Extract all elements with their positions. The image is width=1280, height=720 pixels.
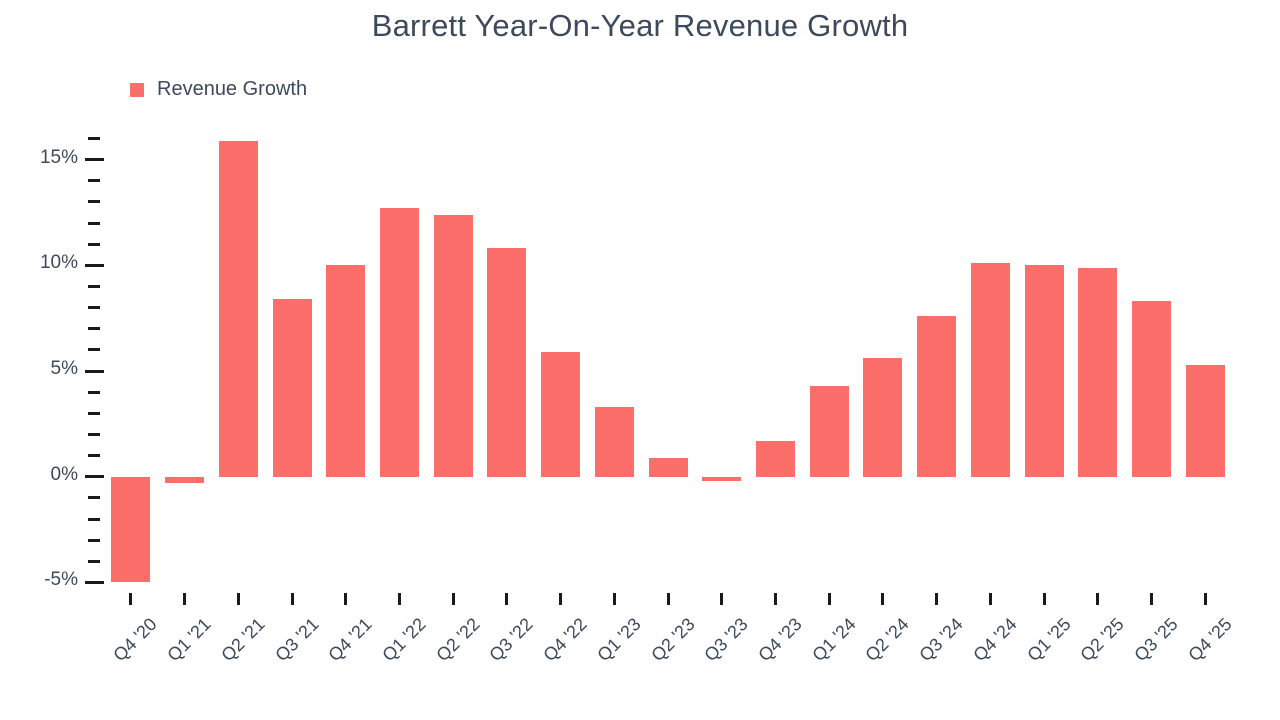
x-axis-tick xyxy=(559,593,562,605)
x-axis-tick-label: Q3 '25 xyxy=(1130,614,1182,666)
bar[interactable] xyxy=(380,208,419,476)
y-axis-minor-tick xyxy=(88,496,100,499)
x-axis-tick-label: Q2 '21 xyxy=(217,614,269,666)
y-axis-tick-label: 0% xyxy=(2,464,78,486)
bar[interactable] xyxy=(165,477,204,483)
y-axis-major-tick xyxy=(85,370,104,373)
y-axis-minor-tick xyxy=(88,327,100,330)
y-axis-minor-tick xyxy=(88,433,100,436)
y-axis-minor-tick xyxy=(88,222,100,225)
x-axis-tick-label: Q4 '23 xyxy=(754,614,806,666)
x-axis-tick xyxy=(452,593,455,605)
bar[interactable] xyxy=(649,458,688,477)
bar[interactable] xyxy=(756,441,795,477)
y-axis-tick-label: 10% xyxy=(2,252,78,274)
y-axis-minor-tick xyxy=(88,243,100,246)
y-axis-minor-tick xyxy=(88,200,100,203)
y-axis-minor-tick xyxy=(88,137,100,140)
x-axis-tick-label: Q4 '25 xyxy=(1184,614,1236,666)
x-axis-tick-label: Q4 '24 xyxy=(969,614,1021,666)
x-axis-tick xyxy=(989,593,992,605)
bar[interactable] xyxy=(810,386,849,477)
x-axis-tick-label: Q1 '21 xyxy=(163,614,215,666)
bar[interactable] xyxy=(487,248,526,476)
chart-title: Barrett Year-On-Year Revenue Growth xyxy=(0,8,1280,44)
revenue-growth-bar-chart: Barrett Year-On-Year Revenue Growth Reve… xyxy=(0,0,1280,720)
x-axis-tick-label: Q1 '25 xyxy=(1023,614,1075,666)
bar[interactable] xyxy=(595,407,634,477)
x-axis-tick xyxy=(667,593,670,605)
bar[interactable] xyxy=(1186,365,1225,477)
x-axis-tick-label: Q3 '22 xyxy=(486,614,538,666)
x-axis-tick xyxy=(398,593,401,605)
y-axis-major-tick xyxy=(85,158,104,161)
y-axis-major-tick xyxy=(85,581,104,584)
bar[interactable] xyxy=(702,477,741,481)
y-axis-minor-tick xyxy=(88,391,100,394)
x-axis-tick-label: Q1 '22 xyxy=(378,614,430,666)
x-axis-tick-label: Q3 '21 xyxy=(271,614,323,666)
x-axis-tick-label: Q3 '23 xyxy=(701,614,753,666)
bar[interactable] xyxy=(111,477,150,583)
y-axis-major-tick xyxy=(85,264,104,267)
legend-label-revenue-growth: Revenue Growth xyxy=(157,78,307,101)
y-axis-tick-label: 15% xyxy=(2,147,78,169)
bar[interactable] xyxy=(1132,301,1171,476)
x-axis-tick xyxy=(881,593,884,605)
x-axis-tick-label: Q4 '22 xyxy=(539,614,591,666)
y-axis-major-tick xyxy=(85,475,104,478)
x-axis-tick xyxy=(1204,593,1207,605)
x-axis-tick-label: Q1 '23 xyxy=(593,614,645,666)
bar[interactable] xyxy=(971,263,1010,476)
y-axis-minor-tick xyxy=(88,306,100,309)
y-axis-line xyxy=(104,128,105,593)
y-axis-minor-tick xyxy=(88,454,100,457)
y-axis-minor-tick xyxy=(88,539,100,542)
bar[interactable] xyxy=(541,352,580,477)
x-axis-tick xyxy=(129,593,132,605)
x-axis-tick-label: Q1 '24 xyxy=(808,614,860,666)
y-axis-minor-tick xyxy=(88,285,100,288)
bar[interactable] xyxy=(863,358,902,476)
x-axis-tick xyxy=(237,593,240,605)
bar[interactable] xyxy=(219,141,258,477)
x-axis-tick xyxy=(1096,593,1099,605)
y-axis-tick-label: -5% xyxy=(2,569,78,591)
x-axis-tick-label: Q4 '20 xyxy=(110,614,162,666)
x-axis-tick xyxy=(505,593,508,605)
x-axis-tick-label: Q2 '23 xyxy=(647,614,699,666)
bar[interactable] xyxy=(917,316,956,477)
chart-legend: Revenue Growth xyxy=(130,78,307,101)
bar[interactable] xyxy=(434,215,473,477)
bar[interactable] xyxy=(273,299,312,477)
x-axis-tick xyxy=(720,593,723,605)
x-axis-tick xyxy=(183,593,186,605)
x-axis-tick-label: Q2 '25 xyxy=(1077,614,1129,666)
bar[interactable] xyxy=(326,265,365,476)
x-axis-tick xyxy=(344,593,347,605)
x-axis-tick-label: Q4 '21 xyxy=(325,614,377,666)
x-axis-tick-label: Q2 '22 xyxy=(432,614,484,666)
bar[interactable] xyxy=(1025,265,1064,476)
y-axis-minor-tick xyxy=(88,412,100,415)
legend-swatch-revenue-growth xyxy=(130,83,144,97)
y-axis-minor-tick xyxy=(88,518,100,521)
x-axis-tick xyxy=(774,593,777,605)
bar[interactable] xyxy=(1078,268,1117,477)
x-axis-tick xyxy=(1150,593,1153,605)
x-axis-tick xyxy=(828,593,831,605)
x-axis-tick-label: Q3 '24 xyxy=(915,614,967,666)
y-axis-tick-label: 5% xyxy=(2,358,78,380)
x-axis-tick xyxy=(291,593,294,605)
plot-area: -5%0%5%10%15% Q4 '20Q1 '21Q2 '21Q3 '21Q4… xyxy=(104,128,1232,593)
x-axis-tick-label: Q2 '24 xyxy=(862,614,914,666)
x-axis-tick xyxy=(613,593,616,605)
y-axis-minor-tick xyxy=(88,560,100,563)
x-axis-tick xyxy=(935,593,938,605)
x-axis-tick xyxy=(1043,593,1046,605)
y-axis-minor-tick xyxy=(88,348,100,351)
y-axis-minor-tick xyxy=(88,179,100,182)
